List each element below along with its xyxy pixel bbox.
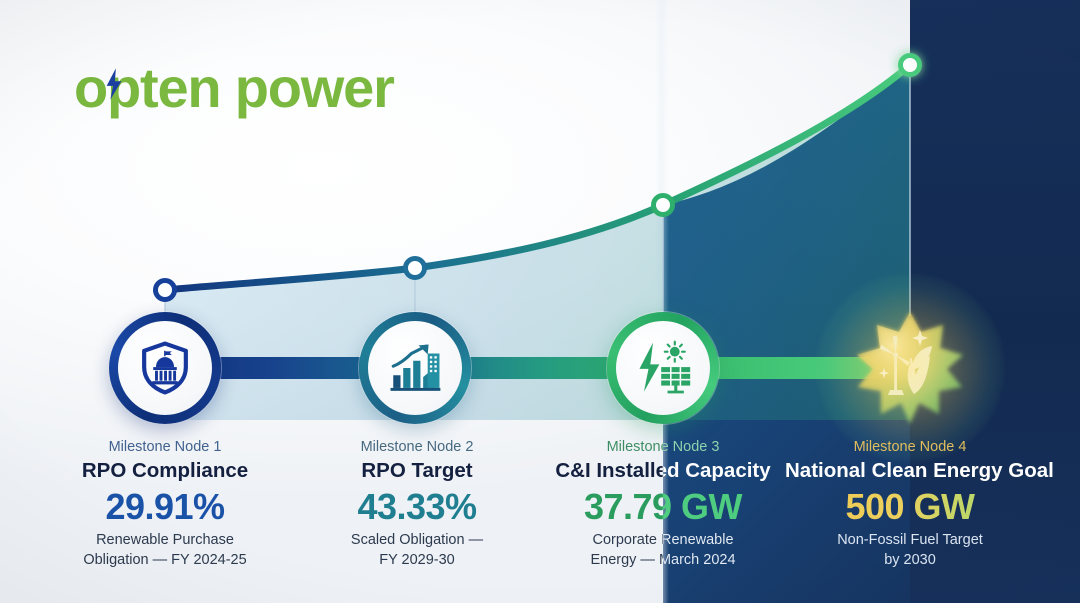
node-2-inner bbox=[368, 321, 462, 415]
bolt-solar-panel-icon bbox=[634, 339, 692, 397]
node-1-inner bbox=[118, 321, 212, 415]
node-4-glow bbox=[816, 274, 1004, 462]
milestone-1-sub-line1: Renewable Purchase bbox=[40, 531, 290, 551]
milestone-1-value: 29.91% bbox=[40, 486, 290, 527]
milestone-2-value: 43.33% bbox=[292, 486, 542, 527]
milestone-4-title: National Clean Energy Goal bbox=[785, 459, 1035, 484]
milestone-4-sub-line2: by 2030 bbox=[785, 551, 1035, 571]
milestone-1-kicker: Milestone Node 1 bbox=[40, 438, 290, 456]
lightning-bolt-icon bbox=[103, 67, 125, 101]
shield-capitol-icon bbox=[136, 339, 194, 397]
milestone-4-value: 500 GW bbox=[785, 486, 1035, 527]
milestone-3-kicker: Milestone Node 3 bbox=[538, 438, 788, 456]
milestone-1-sub-line2: Obligation — FY 2024-25 bbox=[40, 551, 290, 571]
infographic-canvas: opten power bbox=[0, 0, 1080, 603]
milestone-4-kicker: Milestone Node 4 bbox=[785, 438, 1035, 456]
milestone-1-label: Milestone Node 1 RPO Compliance 29.91% R… bbox=[40, 438, 290, 570]
milestone-3-value: 37.79 GW bbox=[538, 486, 788, 527]
growth-bar-chart-buildings-icon bbox=[386, 339, 444, 397]
milestone-node-2-icon-circle[interactable] bbox=[359, 312, 471, 424]
milestone-node-1-icon-circle[interactable] bbox=[109, 312, 221, 424]
milestone-2-kicker: Milestone Node 2 bbox=[292, 438, 542, 456]
milestone-2-label: Milestone Node 2 RPO Target 43.33% Scale… bbox=[292, 438, 542, 570]
milestone-4-label: Milestone Node 4 National Clean Energy G… bbox=[785, 438, 1035, 570]
brand-logo: opten power bbox=[74, 55, 394, 121]
node-3-inner bbox=[616, 321, 710, 415]
milestone-2-title: RPO Target bbox=[292, 459, 542, 484]
milestone-3-label: Milestone Node 3 C&I Installed Capacity … bbox=[538, 438, 788, 570]
milestone-1-title: RPO Compliance bbox=[40, 459, 290, 484]
milestone-3-sub-line2: Energy — March 2024 bbox=[538, 551, 788, 571]
milestone-4-sub-line1: Non-Fossil Fuel Target bbox=[785, 531, 1035, 551]
milestone-node-4-icon-starburst[interactable] bbox=[850, 308, 970, 428]
milestone-node-3-icon-circle[interactable] bbox=[607, 312, 719, 424]
milestone-2-sub-line1: Scaled Obligation — bbox=[292, 531, 542, 551]
milestone-3-sub-line1: Corporate Renewable bbox=[538, 531, 788, 551]
milestone-2-sub-line2: FY 2029-30 bbox=[292, 551, 542, 571]
milestone-3-title: C&I Installed Capacity bbox=[538, 459, 788, 484]
